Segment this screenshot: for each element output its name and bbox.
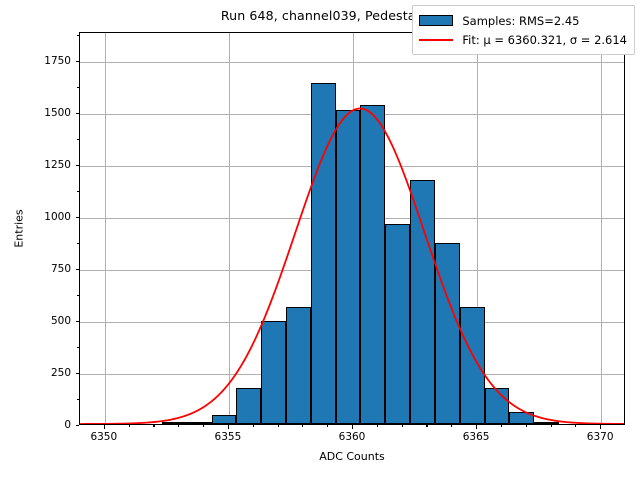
x-tick-minor <box>327 425 328 427</box>
y-axis-label-text: Entries <box>13 209 26 247</box>
y-tick-mark <box>76 269 80 270</box>
gaussian-fit-curve <box>80 33 624 424</box>
x-tick-minor <box>501 425 502 427</box>
chart-legend: Samples: RMS=2.45 Fit: μ = 6360.321, σ =… <box>412 5 635 55</box>
y-tick-label: 1500 <box>44 107 71 119</box>
y-axis-label: Entries <box>12 32 26 425</box>
x-tick-minor <box>203 425 204 427</box>
y-tick-mark <box>76 425 80 426</box>
legend-label-samples: Samples: RMS=2.45 <box>462 14 579 28</box>
y-tick-label: 1750 <box>44 55 71 67</box>
histogram-figure: Run 648, channel039, Pedestal Entries 02… <box>0 0 640 480</box>
x-tick-minor <box>129 425 130 427</box>
x-tick-minor <box>278 425 279 427</box>
legend-item-fit: Fit: μ = 6360.321, σ = 2.614 <box>419 30 627 49</box>
x-tick-minor <box>402 425 403 427</box>
x-tick-label: 6350 <box>90 431 117 443</box>
y-tick-mark <box>76 373 80 374</box>
x-tick-minor <box>302 425 303 427</box>
y-tick-minor <box>77 191 79 192</box>
x-tick-label: 6355 <box>215 431 242 443</box>
x-tick-mark <box>104 425 105 429</box>
y-tick-label: 0 <box>64 419 71 431</box>
y-tick-minor <box>77 295 79 296</box>
x-tick-minor <box>551 425 552 427</box>
x-tick-minor <box>178 425 179 427</box>
y-tick-minor <box>77 35 79 36</box>
legend-patch-icon <box>419 15 453 26</box>
y-tick-minor <box>77 87 79 88</box>
x-tick-label: 6365 <box>463 431 490 443</box>
x-tick-mark <box>352 425 353 429</box>
x-tick-mark <box>600 425 601 429</box>
y-tick-minor <box>77 399 79 400</box>
legend-line-icon <box>419 34 453 45</box>
x-tick-minor <box>451 425 452 427</box>
x-axis-label: ADC Counts <box>79 450 625 463</box>
y-tick-mark <box>76 113 80 114</box>
x-tick-label: 6360 <box>339 431 366 443</box>
x-tick-minor <box>153 425 154 427</box>
x-tick-minor <box>253 425 254 427</box>
y-tick-label: 1000 <box>44 211 71 223</box>
y-tick-mark <box>76 165 80 166</box>
legend-label-fit: Fit: μ = 6360.321, σ = 2.614 <box>462 33 627 47</box>
y-tick-mark <box>76 321 80 322</box>
x-tick-minor <box>426 425 427 427</box>
y-tick-mark <box>76 61 80 62</box>
legend-item-samples: Samples: RMS=2.45 <box>419 11 627 30</box>
y-tick-minor <box>77 347 79 348</box>
y-tick-label: 750 <box>51 263 71 275</box>
y-tick-minor <box>77 139 79 140</box>
fit-path <box>80 109 624 424</box>
x-tick-mark <box>476 425 477 429</box>
x-tick-minor <box>526 425 527 427</box>
plot-area <box>79 32 625 425</box>
y-tick-label: 500 <box>51 315 71 327</box>
x-tick-mark <box>228 425 229 429</box>
y-tick-label: 1250 <box>44 159 71 171</box>
y-tick-mark <box>76 217 80 218</box>
x-tick-minor <box>575 425 576 427</box>
y-tick-label: 250 <box>51 367 71 379</box>
x-tick-minor <box>377 425 378 427</box>
x-tick-label: 6370 <box>587 431 614 443</box>
y-tick-minor <box>77 243 79 244</box>
